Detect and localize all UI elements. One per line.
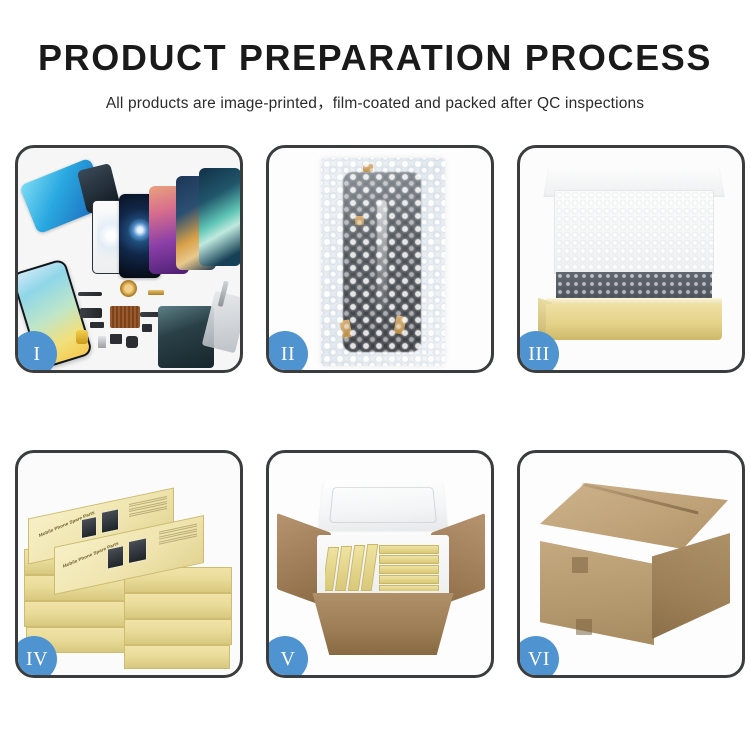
carton-side-face-icon [652,533,730,639]
foam-lid-icon [318,480,448,530]
process-step-card-5: V Carton with foam liner filled with yel… [266,450,494,678]
yellow-tray-base-icon [546,304,722,340]
stacked-box-slab [124,619,232,645]
circuit-board-icon [110,306,140,328]
step-badge-1: I [15,331,57,373]
stacked-box-slab [24,601,132,627]
step-caption-2: Screen assembly wrapped in bubble wrap [269,148,270,149]
bubble-texture-overlay [321,158,445,366]
phone-screens-and-parts-photo [18,148,240,370]
process-step-card-6: VI Sealed brown shipping carton [517,450,745,678]
step-badge-2: II [266,331,308,373]
yellow-bracket-icon [76,330,88,344]
step-caption-5: Carton with foam liner filled with yello… [269,453,270,454]
box-window-b1 [107,545,124,570]
box-window-a2 [101,508,119,534]
yellow-box-item [379,555,439,564]
spare-parts-cluster [76,278,240,370]
yellow-box-item [379,545,439,554]
carton-tab-lower-icon [576,619,592,635]
process-step-card-4: Mobile Phone Spare Parts Mobile Phone Sp… [15,450,243,678]
carton-with-foam-and-boxes-photo [269,453,491,675]
connector-module-icon [80,308,102,318]
box-window-a1 [81,516,97,539]
bubble-wrapped-screen-photo [269,148,491,370]
button-flex-icon [142,324,152,332]
step-caption-4: Stacked yellow retail boxes [18,453,19,454]
process-step-card-2: II Screen assembly wrapped in bubble wra… [266,145,494,373]
stacked-box-slab [124,593,232,619]
antenna-clip-icon [90,322,104,328]
step-badge-6: VI [517,636,559,678]
box-spec-lines-a [129,496,167,519]
bubble-wrap-bag-icon [321,158,445,366]
repair-tool-icon [202,291,240,354]
gold-contact-strip-icon [148,290,164,295]
yellow-box-item [379,565,439,574]
yellow-boxes-group [325,543,441,591]
sealed-shipping-carton-photo [520,453,742,675]
product-preparation-infographic: PRODUCT PREPARATION PROCESS All products… [0,0,750,750]
yellow-box-item [379,585,439,591]
box-stack: Mobile Phone Spare Parts Mobile Phone Sp… [24,475,240,671]
header: PRODUCT PREPARATION PROCESS All products… [0,0,750,113]
step-caption-3: Open yellow tray box with foam padding [520,148,521,149]
yellow-box-item [379,575,439,584]
box-window-b2 [128,537,147,564]
page-title: PRODUCT PREPARATION PROCESS [0,38,750,78]
carton-tab-upper-icon [572,557,588,573]
phone-display-teal-icon [199,168,240,266]
camera-module-icon [110,334,122,344]
box-spec-lines-b [159,524,197,547]
vibration-motor-icon [126,336,138,348]
step-badge-3: III [517,331,559,373]
step-badge-4: IV [15,636,57,678]
flex-cable-icon [78,292,102,296]
carton-top-face-icon [540,483,728,549]
stacked-spare-parts-boxes-photo: Mobile Phone Spare Parts Mobile Phone Sp… [18,453,240,675]
process-step-card-1: I Mobile phone screens, displays and spa… [15,145,243,373]
speaker-coil-icon [120,280,137,297]
step-badge-5: V [266,636,308,678]
page-subtitle: All products are image-printed，film-coat… [0,91,750,113]
process-steps-grid: I Mobile phone screens, displays and spa… [15,145,745,678]
stacked-box-slab [124,645,230,669]
open-foam-lined-box-photo [520,148,742,370]
process-step-card-3: III Open yellow tray box with foam paddi… [517,145,745,373]
small-metal-part-icon [98,336,106,348]
carton-body-icon [299,593,467,655]
step-caption-1: Mobile phone screens, displays and spare… [18,148,19,149]
carton-front-face-icon [540,541,654,645]
white-foam-sheet-icon [554,190,714,274]
step-caption-6: Sealed brown shipping carton [520,453,521,454]
